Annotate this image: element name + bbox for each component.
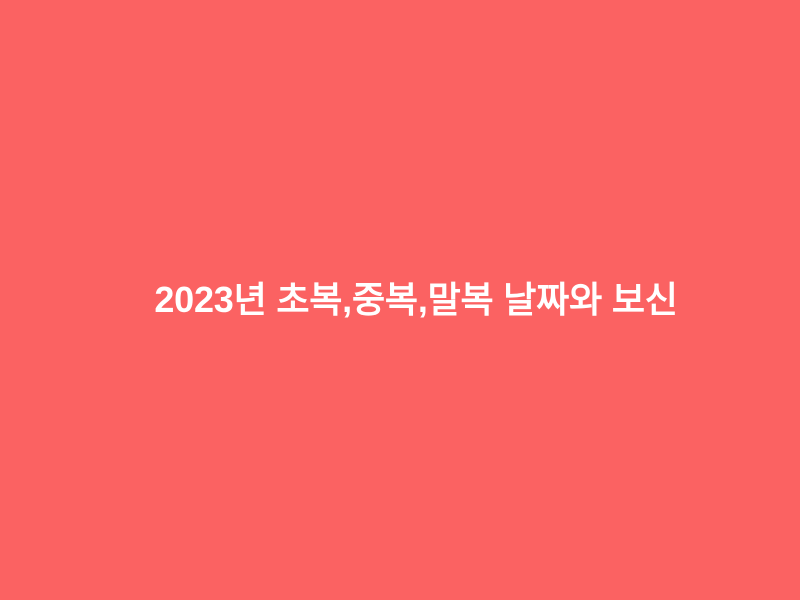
title-block: 2023년 초복,중복,말복 날짜와 보신	[0, 277, 800, 323]
page-title: 2023년 초복,중복,말복 날짜와 보신	[154, 277, 677, 323]
thumbnail-canvas: 2023년 초복,중복,말복 날짜와 보신	[0, 0, 800, 600]
